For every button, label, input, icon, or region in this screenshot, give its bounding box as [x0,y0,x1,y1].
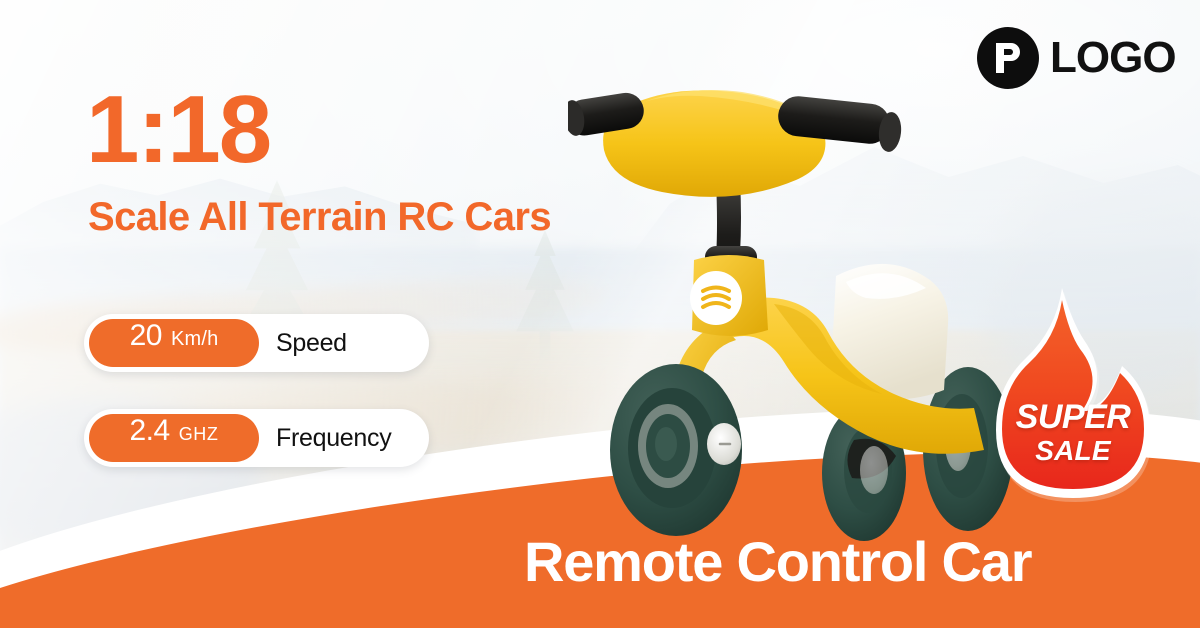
super-sale-badge: SUPER SALE [988,282,1158,504]
spec-label: Frequency [276,424,391,453]
promo-banner: 1:18 Scale All Terrain RC Cars 20 Km/h S… [0,0,1200,628]
spec-pill-speed: 20 Km/h Speed [84,314,429,372]
spec-unit: Km/h [171,328,218,351]
p-monogram-icon [977,27,1039,89]
sale-line-1: SUPER [988,400,1158,435]
footer-title: Remote Control Car [524,534,1031,590]
spec-value: 2.4 [129,414,169,448]
logo-text: LOGO [1050,36,1176,80]
spec-unit: GHZ [179,424,219,445]
page-subtitle: Scale All Terrain RC Cars [88,195,551,239]
sale-line-2: SALE [988,435,1158,467]
super-sale-text: SUPER SALE [988,400,1158,467]
product-image-trike [568,60,1048,560]
spec-badge-frequency: 2.4 GHZ [89,414,259,462]
flame-icon [996,288,1152,502]
spec-label: Speed [276,329,347,358]
spec-value: 20 [130,319,162,353]
spec-pill-frequency: 2.4 GHZ Frequency [84,409,429,467]
spec-badge-speed: 20 Km/h [89,319,259,367]
brand-logo: LOGO [977,27,1176,89]
page-title: 1:18 [86,82,270,178]
